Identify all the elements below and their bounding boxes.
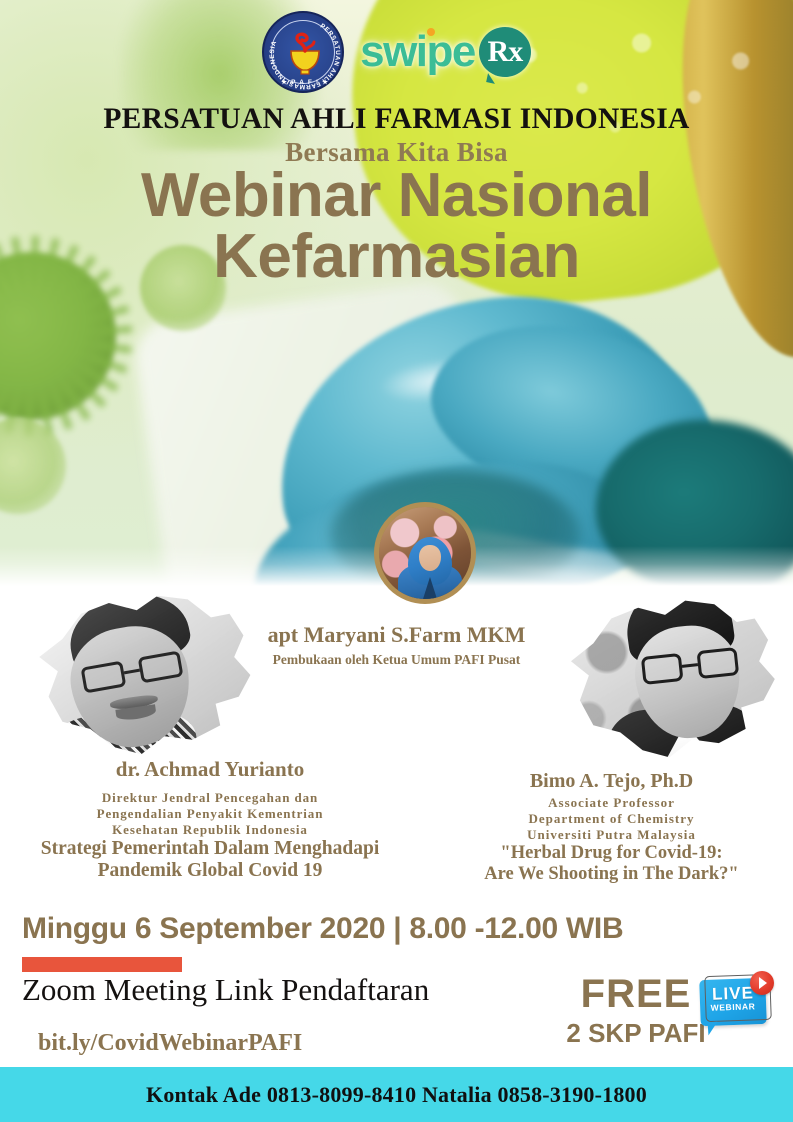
registration-link[interactable]: bit.ly/CovidWebinarPAFI xyxy=(38,1030,302,1057)
play-button-icon xyxy=(750,971,774,995)
contact-bar: Kontak Ade 0813-8099-8410 Natalia 0858-3… xyxy=(0,1067,793,1122)
left-speaker-topic-line1: Strategi Pemerintah Dalam Menghadapi xyxy=(0,838,420,860)
webinar-poster: PERSATUAN AHLI FARMASI INDONESIA ★ P A F… xyxy=(0,0,793,1122)
main-title-line2: Kefarmasian xyxy=(0,227,793,288)
right-speaker-photo xyxy=(562,590,786,768)
left-speaker-title-line2: Pengendalian Penyakit Kementrian xyxy=(0,806,420,822)
rx-label: Rx xyxy=(488,37,523,67)
right-speaker-title-line3: Universiti Putra Malaysia xyxy=(430,827,793,843)
pafi-bottom-label: ★ P A F I ★ xyxy=(264,78,346,86)
event-date-time: Minggu 6 September 2020 | 8.00 -12.00 WI… xyxy=(22,912,623,946)
right-speaker-name: Bimo A. Tejo, Ph.D xyxy=(430,770,793,793)
organization-title: PERSATUAN AHLI FARMASI INDONESIA xyxy=(0,103,793,136)
right-speaker-title-line1: Associate Professor xyxy=(430,795,793,811)
left-speaker-topic-line2: Pandemik Global Covid 19 xyxy=(0,860,420,882)
right-speaker-title-line2: Department of Chemistry xyxy=(430,811,793,827)
red-accent-bar xyxy=(22,957,182,972)
contact-text: Kontak Ade 0813-8099-8410 Natalia 0858-3… xyxy=(146,1082,647,1108)
swipe-wordmark: swipe xyxy=(360,30,475,74)
pafi-logo: PERSATUAN AHLI FARMASI INDONESIA ★ P A F… xyxy=(262,11,344,93)
registration-label: Zoom Meeting Link Pendaftaran xyxy=(22,972,429,1008)
left-speaker-topic: Strategi Pemerintah Dalam Menghadapi Pan… xyxy=(0,838,420,882)
left-speaker-name: dr. Achmad Yurianto xyxy=(0,757,420,782)
live-webinar-badge: LIVE WEBINAR xyxy=(700,975,772,1035)
rx-speech-bubble-icon: Rx xyxy=(479,27,531,77)
skp-credit-label: 2 SKP PAFI xyxy=(556,1018,716,1049)
left-speaker-title-line3: Kesehatan Republik Indonesia xyxy=(0,822,420,838)
right-speaker-title: Associate Professor Department of Chemis… xyxy=(430,795,793,843)
live-badge-tail-icon xyxy=(708,1022,719,1036)
main-title-line1: Webinar Nasional xyxy=(141,161,652,230)
page-title: Webinar Nasional Kefarmasian xyxy=(0,166,793,288)
left-speaker-title-line1: Direktur Jendral Pencegahan dan xyxy=(0,790,420,806)
center-speaker-avatar xyxy=(374,502,476,604)
center-speaker-photo xyxy=(379,507,471,599)
swiperx-logo: swipe Rx xyxy=(360,27,531,77)
right-speaker-topic: "Herbal Drug for Covid-19: Are We Shooti… xyxy=(430,843,793,885)
swipe-wordmark-text: swipe xyxy=(360,27,475,76)
right-speaker-topic-line1: "Herbal Drug for Covid-19: xyxy=(430,843,793,864)
left-speaker-photo xyxy=(30,585,262,765)
right-speaker-topic-line2: Are We Shooting in The Dark?" xyxy=(430,864,793,885)
logo-row: PERSATUAN AHLI FARMASI INDONESIA ★ P A F… xyxy=(0,10,793,94)
left-speaker-title: Direktur Jendral Pencegahan dan Pengenda… xyxy=(0,790,420,838)
bowl-of-hygieia-icon xyxy=(281,29,329,77)
free-badge: FREE xyxy=(556,972,716,1017)
